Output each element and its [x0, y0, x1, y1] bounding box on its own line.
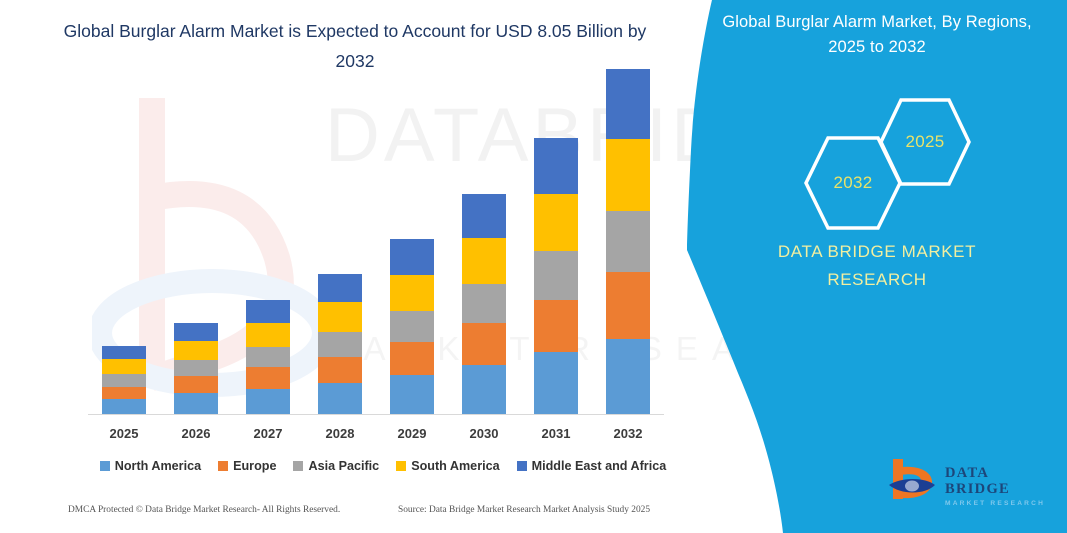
bar-segment: [390, 375, 434, 414]
stacked-bar: [174, 323, 218, 414]
x-axis-line: [88, 414, 664, 415]
bar-segment: [318, 302, 362, 332]
legend-swatch: [396, 461, 406, 471]
x-axis-labels: 20252026202720282029203020312032: [88, 422, 664, 444]
bar-column: [448, 60, 520, 414]
legend-item[interactable]: Middle East and Africa: [517, 459, 667, 473]
bar-segment: [390, 275, 434, 312]
bar-segment: [246, 367, 290, 389]
footer-copyright: DMCA Protected © Data Bridge Market Rese…: [68, 505, 340, 515]
panel-title: Global Burglar Alarm Market, By Regions,…: [707, 10, 1047, 60]
bar-segment: [246, 389, 290, 414]
brand-name-line2: RESEARCH: [707, 266, 1047, 294]
stacked-bar: [462, 194, 506, 414]
bar-column: [304, 60, 376, 414]
legend-label: Asia Pacific: [308, 459, 379, 473]
bar-segment: [534, 352, 578, 414]
stacked-bar: [318, 274, 362, 414]
bar-segment: [534, 138, 578, 194]
bar-column: [376, 60, 448, 414]
bar-segment: [462, 238, 506, 284]
bar-segment: [246, 300, 290, 323]
x-axis-label: 2030: [448, 426, 520, 441]
bar-segment: [102, 374, 146, 387]
bar-segment: [102, 387, 146, 400]
legend-label: South America: [411, 459, 499, 473]
bar-segment: [102, 346, 146, 360]
bar-segment: [390, 342, 434, 375]
stacked-bar: [606, 69, 650, 414]
legend-swatch: [517, 461, 527, 471]
x-axis-label: 2028: [304, 426, 376, 441]
x-axis-label: 2026: [160, 426, 232, 441]
bar-segment: [462, 365, 506, 414]
stacked-bar: [390, 239, 434, 414]
bar-segment: [246, 323, 290, 347]
company-logo: DATA BRIDGE MARKET RESEARCH: [887, 455, 1057, 515]
bar-segment: [462, 323, 506, 365]
logo-wordmark: DATA BRIDGE MARKET RESEARCH: [945, 465, 1057, 508]
bar-segment: [534, 300, 578, 353]
bar-segment: [534, 194, 578, 251]
hexagon-2032: 2032: [802, 134, 904, 232]
bar-column: [592, 60, 664, 414]
bar-column: [232, 60, 304, 414]
bar-segment: [606, 211, 650, 273]
legend-item[interactable]: South America: [396, 459, 499, 473]
bar-chart-plot: [88, 60, 664, 414]
legend-swatch: [293, 461, 303, 471]
bar-segment: [390, 311, 434, 342]
bar-column: [88, 60, 160, 414]
legend-swatch: [100, 461, 110, 471]
legend-item[interactable]: Asia Pacific: [293, 459, 379, 473]
x-axis-label: 2025: [88, 426, 160, 441]
chart-panel: DATABRIDGE MARKET RESEARCH Global Burgla…: [0, 0, 700, 533]
brand-name-line1: DATA BRIDGE MARKET: [707, 238, 1047, 266]
bar-segment: [462, 284, 506, 323]
bar-segment: [318, 332, 362, 357]
legend-label: Europe: [233, 459, 276, 473]
logo-b-mark: [887, 455, 943, 505]
bar-segment: [318, 383, 362, 414]
infographic-root: DATABRIDGE MARKET RESEARCH Global Burgla…: [0, 0, 1067, 533]
stacked-bar: [102, 346, 146, 414]
logo-subtitle: MARKET RESEARCH: [945, 500, 1057, 508]
bar-segment: [174, 360, 218, 376]
x-axis-label: 2029: [376, 426, 448, 441]
bar-segment: [390, 239, 434, 274]
chart-legend: North AmericaEuropeAsia PacificSouth Ame…: [88, 456, 678, 476]
bar-segment: [174, 393, 218, 414]
bar-segment: [318, 357, 362, 383]
footer: DMCA Protected © Data Bridge Market Rese…: [60, 505, 690, 525]
bar-segment: [606, 339, 650, 414]
legend-swatch: [218, 461, 228, 471]
bar-segment: [102, 359, 146, 374]
bar-segment: [246, 347, 290, 368]
bar-segment: [174, 323, 218, 341]
bar-segment: [606, 69, 650, 139]
bar-segment: [318, 274, 362, 303]
legend-item[interactable]: Europe: [218, 459, 276, 473]
bar-segment: [606, 139, 650, 211]
bar-segment: [534, 251, 578, 300]
brand-panel: Global Burglar Alarm Market, By Regions,…: [687, 0, 1067, 533]
legend-item[interactable]: North America: [100, 459, 201, 473]
bar-segment: [462, 194, 506, 239]
stacked-bar: [246, 300, 290, 414]
footer-source: Source: Data Bridge Market Research Mark…: [398, 505, 650, 515]
legend-label: Middle East and Africa: [532, 459, 667, 473]
stacked-bar: [534, 138, 578, 414]
x-axis-label: 2032: [592, 426, 664, 441]
bar-segment: [174, 376, 218, 393]
brand-name: DATA BRIDGE MARKET RESEARCH: [707, 238, 1047, 294]
bar-column: [520, 60, 592, 414]
x-axis-label: 2031: [520, 426, 592, 441]
x-axis-label: 2027: [232, 426, 304, 441]
legend-label: North America: [115, 459, 201, 473]
logo-name: DATA BRIDGE: [945, 465, 1057, 497]
hexagon-group: 2025 2032: [742, 96, 1062, 216]
bar-segment: [102, 399, 146, 414]
bar-segment: [174, 341, 218, 360]
hexagon-2032-label: 2032: [802, 134, 904, 232]
bar-segment: [606, 272, 650, 338]
bar-column: [160, 60, 232, 414]
